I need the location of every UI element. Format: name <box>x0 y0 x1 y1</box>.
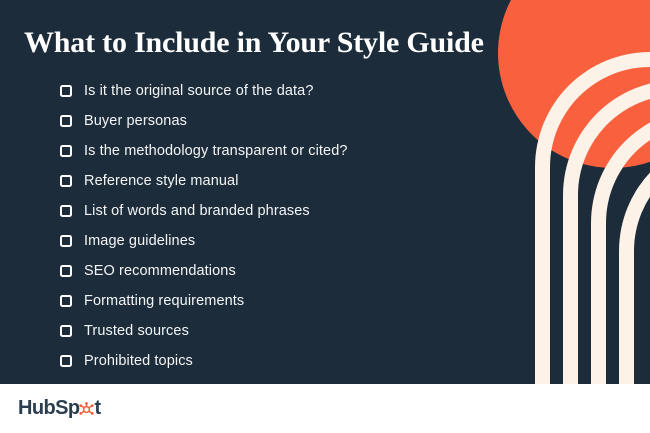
list-item[interactable]: Is the methodology transparent or cited? <box>60 136 490 166</box>
list-item-label: Prohibited topics <box>84 353 193 369</box>
logo-text-after: t <box>94 398 100 418</box>
checkbox-icon[interactable] <box>60 355 72 367</box>
list-item-label: Buyer personas <box>84 113 187 129</box>
list-item[interactable]: List of words and branded phrases <box>60 196 490 226</box>
list-item-label: Reference style manual <box>84 173 239 189</box>
list-item[interactable]: Is it the original source of the data? <box>60 76 490 106</box>
checkbox-icon[interactable] <box>60 265 72 277</box>
checkbox-icon[interactable] <box>60 295 72 307</box>
checkbox-icon[interactable] <box>60 115 72 127</box>
hubspot-sprocket-icon <box>79 402 94 417</box>
page-title: What to Include in Your Style Guide <box>24 26 484 60</box>
checkbox-icon[interactable] <box>60 145 72 157</box>
list-item-label: Trusted sources <box>84 323 189 339</box>
dark-panel: What to Include in Your Style Guide Is i… <box>0 0 650 384</box>
checkbox-icon[interactable] <box>60 235 72 247</box>
list-item-label: List of words and branded phrases <box>84 203 310 219</box>
infographic-canvas: What to Include in Your Style Guide Is i… <box>0 0 650 433</box>
list-item-label: Formatting requirements <box>84 293 244 309</box>
list-item[interactable]: Image guidelines <box>60 226 490 256</box>
list-item-label: Image guidelines <box>84 233 195 249</box>
logo-text-before: HubSp <box>18 398 79 418</box>
list-item[interactable]: Reference style manual <box>60 166 490 196</box>
list-item[interactable]: Prohibited topics <box>60 346 490 376</box>
list-item[interactable]: Trusted sources <box>60 316 490 346</box>
checkbox-icon[interactable] <box>60 175 72 187</box>
checkbox-icon[interactable] <box>60 85 72 97</box>
checkbox-icon[interactable] <box>60 325 72 337</box>
list-item-label: Is the methodology transparent or cited? <box>84 143 348 159</box>
list-item[interactable]: SEO recommendations <box>60 256 490 286</box>
checkbox-icon[interactable] <box>60 205 72 217</box>
list-item-label: SEO recommendations <box>84 263 236 279</box>
hubspot-logo[interactable]: HubSp <box>18 396 101 420</box>
footer-bar: HubSp <box>0 384 650 433</box>
list-item[interactable]: Buyer personas <box>60 106 490 136</box>
list-item-label: Is it the original source of the data? <box>84 83 314 99</box>
style-guide-checklist: Is it the original source of the data? B… <box>60 76 490 376</box>
list-item[interactable]: Formatting requirements <box>60 286 490 316</box>
